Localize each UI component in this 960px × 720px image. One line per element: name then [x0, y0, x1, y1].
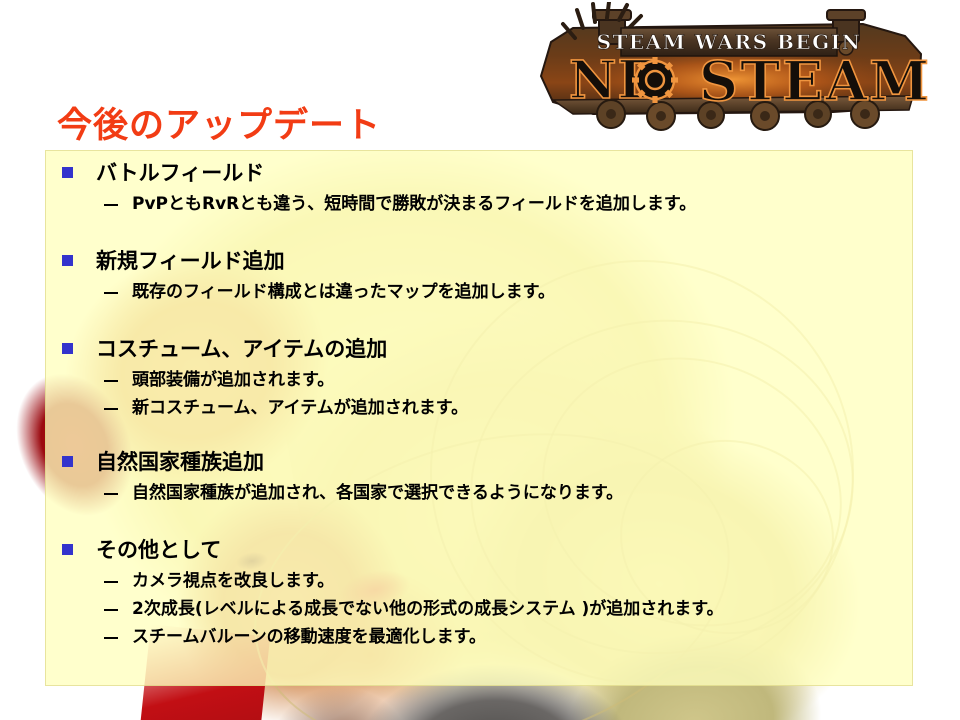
- dash-bullet-icon: [104, 637, 118, 639]
- dash-bullet-icon: [104, 380, 118, 382]
- presentation-slide: 今後のアップデート バトルフィールド PvPともRvRとも違う、短時間で勝敗が決…: [0, 0, 960, 720]
- list-item-label: カメラ視点を改良します。: [132, 567, 334, 595]
- bullet-group-header: バトルフィールド: [55, 158, 905, 188]
- artwork-boot-highlight: [300, 710, 420, 720]
- bullet-group-title: その他として: [96, 535, 221, 565]
- list-item-label: 新コスチューム、アイテムが追加されます。: [132, 394, 468, 422]
- list-item: 頭部装備が追加されます。: [104, 366, 905, 394]
- bullet-group-battlefield: バトルフィールド PvPともRvRとも違う、短時間で勝敗が決まるフィールドを追加…: [55, 158, 905, 218]
- dash-bullet-icon: [104, 609, 118, 611]
- list-item: PvPともRvRとも違う、短時間で勝敗が決まるフィールドを追加します。: [104, 190, 905, 218]
- page-title: 今後のアップデート: [57, 97, 381, 148]
- square-bullet-icon: [62, 456, 73, 467]
- list-item: 自然国家種族が追加され、各国家で選択できるようになります。: [104, 479, 905, 507]
- list-item-label: 既存のフィールド構成とは違ったマップを追加します。: [132, 278, 555, 306]
- list-item: カメラ視点を改良します。: [104, 567, 905, 595]
- square-bullet-icon: [62, 167, 73, 178]
- list-item: 新コスチューム、アイテムが追加されます。: [104, 394, 905, 422]
- square-bullet-icon: [62, 544, 73, 555]
- bullet-group-title: 新規フィールド追加: [96, 246, 285, 276]
- bullet-group-others: その他として カメラ視点を改良します。 2次成長(レベルによる成長でない他の形式…: [55, 535, 905, 651]
- list-item-label: 2次成長(レベルによる成長でない他の形式の成長システム )が追加されます。: [132, 595, 724, 623]
- spacer: [55, 430, 905, 447]
- dash-bullet-icon: [104, 493, 118, 495]
- logo-wordmark-steam: STEAM: [699, 49, 928, 113]
- list-item: 既存のフィールド構成とは違ったマップを追加します。: [104, 278, 905, 306]
- bullet-group-header: コスチューム、アイテムの追加: [55, 334, 905, 364]
- bullet-group-title: バトルフィールド: [96, 158, 264, 188]
- gear-icon: [632, 57, 678, 103]
- dash-bullet-icon: [104, 581, 118, 583]
- dash-bullet-icon: [104, 408, 118, 410]
- bullet-group-header: 自然国家種族追加: [55, 447, 905, 477]
- neo-steam-logo: STEAM WARS BEGIN NE: [533, 2, 928, 134]
- spacer: [55, 314, 905, 334]
- list-item-label: PvPともRvRとも違う、短時間で勝敗が決まるフィールドを追加します。: [132, 190, 696, 218]
- bullet-group-new-field: 新規フィールド追加 既存のフィールド構成とは違ったマップを追加します。: [55, 246, 905, 306]
- list-item: 2次成長(レベルによる成長でない他の形式の成長システム )が追加されます。: [104, 595, 905, 623]
- logo-wordmark: NE STEAM: [569, 49, 928, 113]
- list-item-label: 頭部装備が追加されます。: [132, 366, 334, 394]
- bullet-group-title: コスチューム、アイテムの追加: [96, 334, 387, 364]
- list-item-label: 自然国家種族が追加され、各国家で選択できるようになります。: [132, 479, 623, 507]
- update-bullet-list: バトルフィールド PvPともRvRとも違う、短時間で勝敗が決まるフィールドを追加…: [55, 158, 905, 659]
- bullet-group-nature-nation-race: 自然国家種族追加 自然国家種族が追加され、各国家で選択できるようになります。: [55, 447, 905, 507]
- square-bullet-icon: [62, 343, 73, 354]
- bullet-group-header: 新規フィールド追加: [55, 246, 905, 276]
- list-item: スチームバルーンの移動速度を最適化します。: [104, 623, 905, 651]
- square-bullet-icon: [62, 255, 73, 266]
- dash-bullet-icon: [104, 292, 118, 294]
- bullet-group-costume-item: コスチューム、アイテムの追加 頭部装備が追加されます。 新コスチューム、アイテム…: [55, 334, 905, 422]
- bullet-group-header: その他として: [55, 535, 905, 565]
- spacer: [55, 515, 905, 535]
- dash-bullet-icon: [104, 204, 118, 206]
- bullet-group-title: 自然国家種族追加: [96, 447, 264, 477]
- spacer: [55, 226, 905, 246]
- list-item-label: スチームバルーンの移動速度を最適化します。: [132, 623, 486, 651]
